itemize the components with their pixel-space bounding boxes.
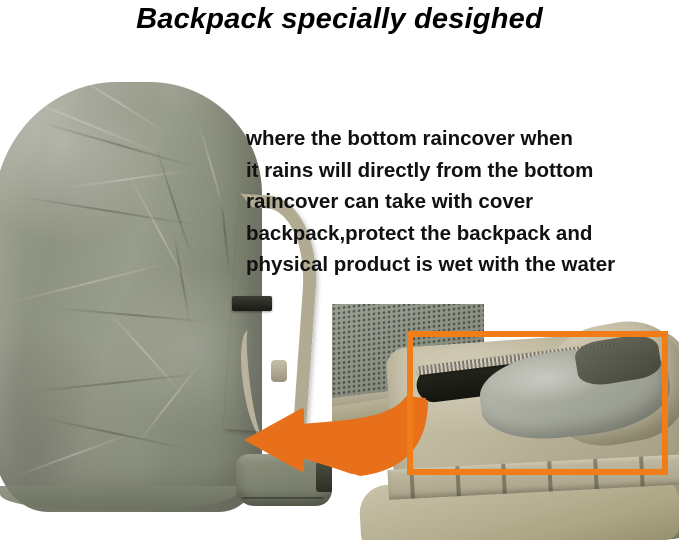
description-line-5: physical product is wet with the water [246,249,679,281]
description-text: where the bottom raincover when it rains… [246,123,679,281]
fabric-wrinkles [0,82,262,512]
rain-cover-photo [0,82,262,512]
description-line-3: raincover can take with cover [246,186,679,218]
description-line-4: backpack,protect the backpack and [246,218,679,250]
rain-cover-fabric [0,82,262,512]
page-title: Backpack specially desighed [0,2,679,36]
description-line-2: it rains will directly from the bottom [246,155,679,187]
description-line-1: where the bottom raincover when [246,123,679,155]
strap-keeper [271,360,287,382]
strap-buckle [232,296,272,311]
curved-left-arrow-icon [240,396,430,488]
orange-highlight-rectangle [407,331,668,475]
product-infographic: Backpack specially desighed [0,0,679,540]
